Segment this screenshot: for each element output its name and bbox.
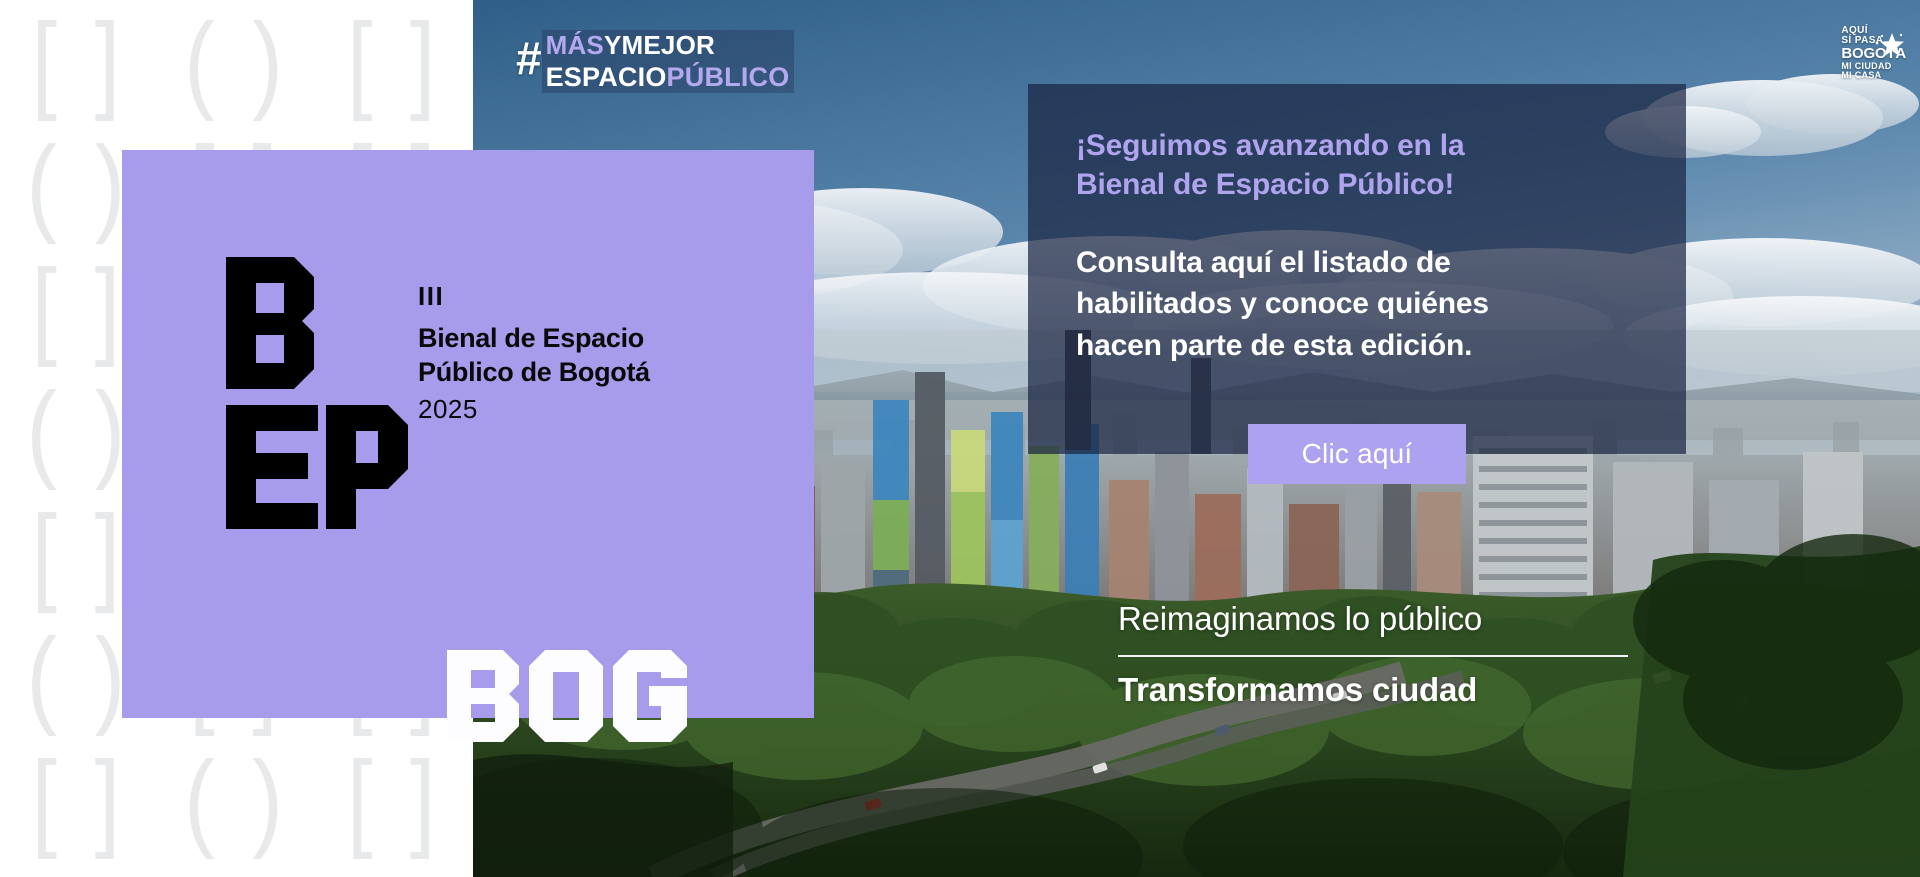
- announcement-heading-line-2: Bienal de Espacio Público!: [1076, 165, 1641, 204]
- bep-monogram-letters: [222, 253, 422, 553]
- hashtag-line-2: ESPACIOPÚBLICO: [542, 61, 795, 93]
- bep-monogram: [222, 253, 422, 553]
- tagline-divider: [1118, 655, 1628, 657]
- tagline-block: Reimaginamos lo público Transformamos ci…: [1118, 600, 1628, 710]
- tagline-transformamos: Transformamos ciudad: [1118, 671, 1628, 710]
- bracket-glyph: ( ): [184, 7, 289, 116]
- bog-wordmark: [445, 648, 689, 744]
- bep-meta-text: III Bienal de Espacio Público de Bogotá …: [418, 282, 650, 425]
- bracket-glyph: ( ): [26, 376, 131, 485]
- announcement-heading-line-1: ¡Seguimos avanzando en la: [1076, 126, 1641, 165]
- bracket-glyph: ( ): [26, 622, 131, 731]
- bep-name-line-1: Bienal de Espacio: [418, 321, 650, 356]
- clic-aqui-button[interactable]: Clic aquí: [1248, 424, 1466, 484]
- bracket-glyph: [ ]: [347, 7, 442, 116]
- banner-root: [ ]( )[ ]( )[ ][ ][ ]{ }[ ]( )[ ][ ][ ](…: [0, 0, 1920, 877]
- hashtag-ymejor: YMEJOR: [604, 30, 715, 60]
- bracket-glyph: [ ]: [31, 745, 126, 854]
- bracket-glyph: [ ]: [347, 745, 442, 854]
- bep-name-line-2: Público de Bogotá: [418, 355, 650, 390]
- announcement-body-line-1: Consulta aquí el listado de: [1076, 242, 1654, 283]
- hashtag-mas: MÁS: [546, 30, 604, 60]
- clic-aqui-button-label: Clic aquí: [1302, 438, 1413, 470]
- bep-logo-card: III Bienal de Espacio Público de Bogotá …: [122, 150, 814, 718]
- bracket-glyph: [ ]: [31, 253, 126, 362]
- star-icon: [1872, 32, 1906, 58]
- tagline-reimaginamos: Reimaginamos lo público: [1118, 600, 1628, 639]
- announcement-body-line-2: habilitados y conoce quiénes: [1076, 283, 1654, 324]
- bog-letters: [445, 648, 689, 744]
- announcement-body-line-3: hacen parte de esta edición.: [1076, 325, 1654, 366]
- announcement-body: Consulta aquí el listado de habilitados …: [1076, 242, 1654, 366]
- hash-symbol-icon: #: [516, 37, 541, 79]
- bracket-glyph: ( ): [184, 745, 289, 854]
- hashtag-line-1: MÁSYMEJOR: [542, 30, 795, 61]
- hashtag-espacio: ESPACIO: [546, 62, 667, 92]
- bracket-glyph: [ ]: [31, 7, 126, 116]
- announcement-panel: ¡Seguimos avanzando en la Bienal de Espa…: [1028, 84, 1686, 454]
- bracket-glyph: ( ): [26, 130, 131, 239]
- hashtag-lines: MÁSYMEJOR ESPACIOPÚBLICO: [542, 30, 795, 93]
- bracket-glyph: [ ]: [31, 499, 126, 608]
- bep-year: 2025: [418, 394, 650, 425]
- announcement-heading: ¡Seguimos avanzando en la Bienal de Espa…: [1076, 126, 1641, 204]
- hashtag-publico: PÚBLICO: [667, 62, 790, 92]
- city-logo-line-5: MI CASA: [1841, 71, 1906, 80]
- bep-edition-number: III: [418, 282, 650, 311]
- bogota-city-logo: AQUÍ SÍ PASA BOGOTA MI CIUDAD MI CASA: [1841, 26, 1906, 80]
- hashtag-campaign: # MÁSYMEJOR ESPACIOPÚBLICO: [516, 30, 794, 93]
